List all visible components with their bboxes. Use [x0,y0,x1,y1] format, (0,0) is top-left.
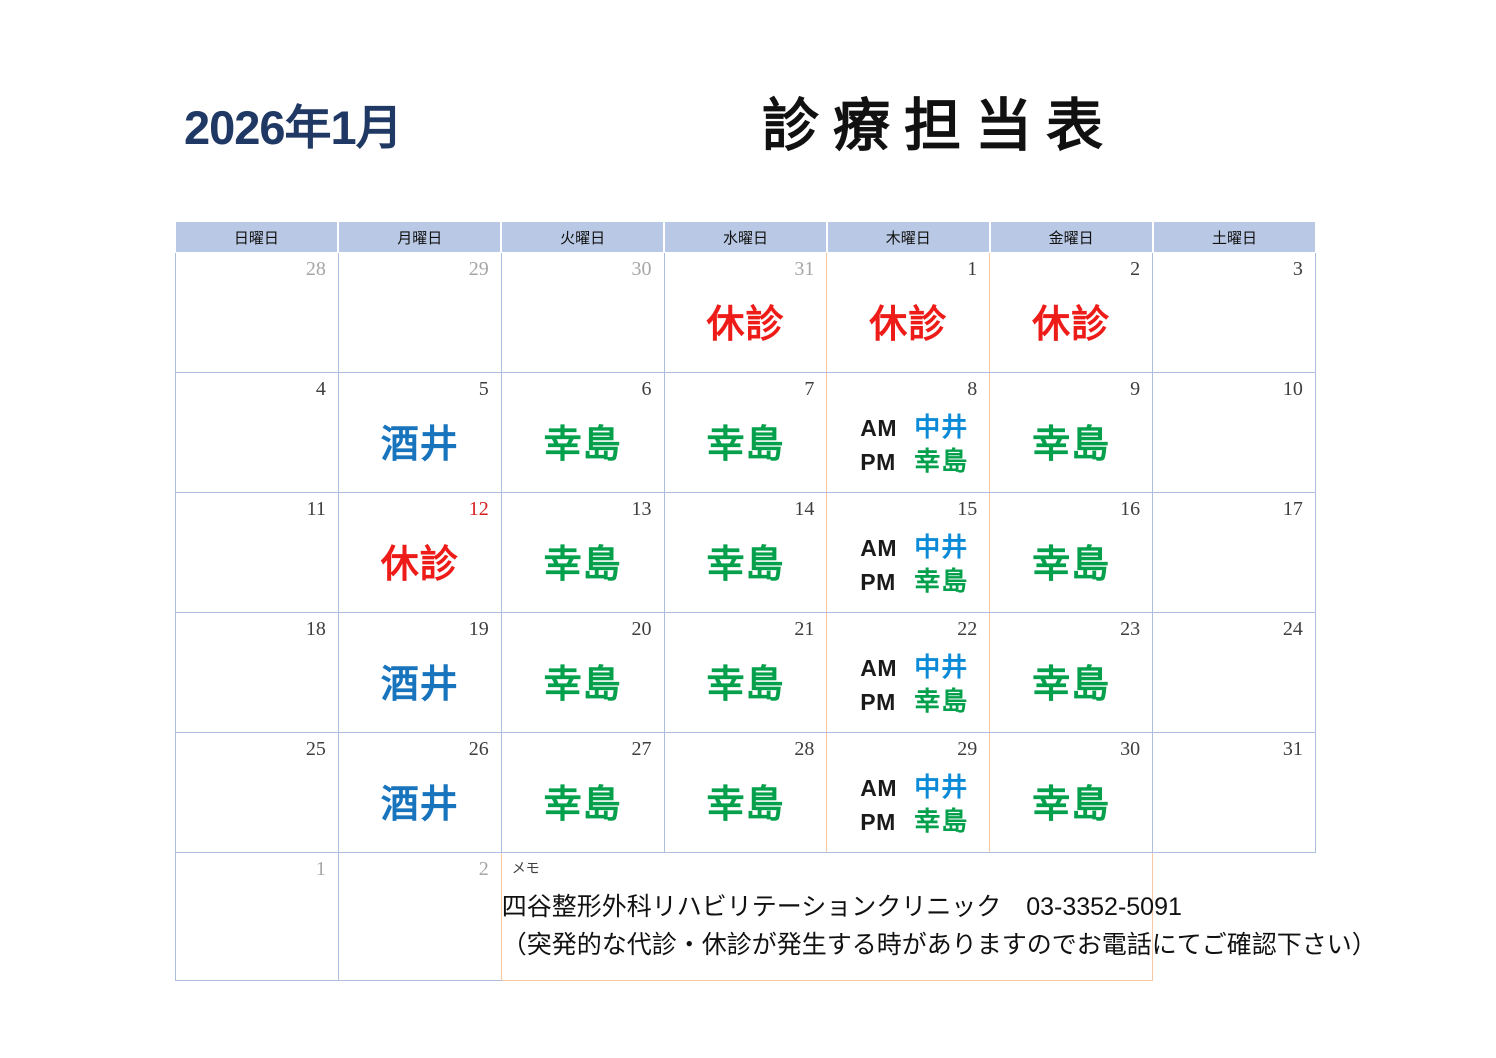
pm-shift-doctor-name: 幸島 [914,448,968,474]
day-number: 3 [1153,253,1315,285]
doctor-name: 幸島 [544,666,622,704]
day-number: 26 [339,733,501,765]
day-assignment: 休診 [339,525,501,609]
memo-row: 12メモ四谷整形外科リハビリテーションクリニック 03-3352-5091（突発… [176,853,1316,981]
day-assignment: 酒井 [339,765,501,849]
calendar-day-cell[interactable]: 28 [176,253,339,373]
doctor-name: 幸島 [1032,666,1110,704]
ampm-assignment: AM中井PM幸島 [848,414,968,476]
day-number: 9 [990,373,1152,405]
day-assignment [176,765,338,849]
day-number: 6 [502,373,664,405]
schedule-page: 2026年1月 診療担当表 日曜日月曜日火曜日水曜日木曜日金曜日土曜日 2829… [0,0,1496,1058]
memo-box[interactable]: メモ四谷整形外科リハビリテーションクリニック 03-3352-5091（突発的な… [501,853,1152,981]
calendar-day-cell[interactable]: 22AM中井PM幸島 [827,613,990,733]
day-number: 22 [827,613,989,645]
pm-shift-doctor-name: 幸島 [914,688,968,714]
calendar-day-cell[interactable]: 21幸島 [664,613,827,733]
day-assignment [1153,765,1315,849]
pm-shift-doctor-name: 幸島 [914,808,968,834]
ampm-assignment: AM中井PM幸島 [848,534,968,596]
calendar-day-cell[interactable]: 16幸島 [990,493,1153,613]
day-number: 7 [665,373,827,405]
day-assignment: AM中井PM幸島 [827,525,989,609]
day-number: 31 [665,253,827,285]
am-shift-doctor-name: 中井 [914,534,968,560]
calendar-day-cell[interactable]: 4 [176,373,339,493]
day-number: 8 [827,373,989,405]
pm-shift-doctor-name: 幸島 [914,568,968,594]
day-assignment [1153,405,1315,489]
calendar-header: 日曜日月曜日火曜日水曜日木曜日金曜日土曜日 [176,222,1316,253]
am-shift-doctor-name: 中井 [914,414,968,440]
day-number: 18 [176,613,338,645]
am-shift: AM中井 [860,414,968,442]
doctor-name: 幸島 [1032,546,1110,584]
day-number: 20 [502,613,664,645]
day-number: 21 [665,613,827,645]
doctor-name: 幸島 [544,786,622,824]
day-assignment [176,285,338,369]
day-assignment: 幸島 [502,405,664,489]
day-assignment [1153,525,1315,609]
calendar-day-cell[interactable]: 3 [1153,253,1316,373]
calendar-day-cell[interactable]: 14幸島 [664,493,827,613]
doctor-name: 酒井 [381,786,459,824]
calendar-day-cell[interactable]: 10 [1153,373,1316,493]
day-number: 10 [1153,373,1315,405]
day-assignment [176,525,338,609]
am-shift: AM中井 [860,654,968,682]
calendar-day-cell[interactable]: 17 [1153,493,1316,613]
pm-shift: PM幸島 [860,568,968,596]
day-assignment: 幸島 [665,525,827,609]
clinic-name-and-phone: 四谷整形外科リハビリテーションクリニック 03-3352-5091 [502,889,1152,927]
day-number: 2 [990,253,1152,285]
calendar-day-cell[interactable]: 11 [176,493,339,613]
day-assignment: 幸島 [990,645,1152,729]
pm-shift-label: PM [860,809,902,836]
calendar-day-cell[interactable]: 23幸島 [990,613,1153,733]
day-assignment: 幸島 [502,645,664,729]
calendar-day-cell[interactable]: 24 [1153,613,1316,733]
calendar-day-cell[interactable]: 27幸島 [501,733,664,853]
day-number: 13 [502,493,664,525]
calendar-day-cell[interactable]: 15AM中井PM幸島 [827,493,990,613]
day-assignment: 休診 [827,285,989,369]
calendar-day-cell[interactable]: 30幸島 [990,733,1153,853]
day-assignment: 酒井 [339,405,501,489]
page-title-document: 診療担当表 [762,98,1117,155]
day-assignment: AM中井PM幸島 [827,405,989,489]
day-number: 15 [827,493,989,525]
day-assignment: AM中井PM幸島 [827,765,989,849]
pm-shift: PM幸島 [860,448,968,476]
doctor-name: 幸島 [544,546,622,584]
day-number: 28 [665,733,827,765]
doctor-name: 幸島 [706,786,784,824]
pm-shift: PM幸島 [860,808,968,836]
day-number: 14 [665,493,827,525]
calendar-day-cell[interactable]: 1休診 [827,253,990,373]
day-number: 17 [1153,493,1315,525]
day-assignment: 幸島 [990,405,1152,489]
am-shift-label: AM [860,655,902,682]
calendar-day-cell[interactable]: 8AM中井PM幸島 [827,373,990,493]
calendar-day-cell[interactable]: 9幸島 [990,373,1153,493]
am-shift-doctor-name: 中井 [914,774,968,800]
doctor-name: 幸島 [706,666,784,704]
weekday-header-6: 土曜日 [1153,222,1316,253]
calendar-day-cell[interactable]: 31休診 [664,253,827,373]
am-shift-label: AM [860,535,902,562]
day-number: 16 [990,493,1152,525]
pm-shift-label: PM [860,569,902,596]
calendar-day-cell[interactable]: 19酒井 [338,613,501,733]
calendar-day-cell[interactable]: 29 [338,253,501,373]
day-assignment: 幸島 [665,645,827,729]
day-number: 2 [339,853,501,885]
day-assignment: 幸島 [502,765,664,849]
am-shift-doctor-name: 中井 [914,654,968,680]
closed-label: 休診 [706,306,784,344]
doctor-name: 幸島 [544,426,622,464]
calendar-day-cell[interactable]: 28幸島 [664,733,827,853]
calendar-day-cell[interactable]: 20幸島 [501,613,664,733]
day-number: 4 [176,373,338,405]
calendar-week-row: 28293031休診1休診2休診3 [176,253,1316,373]
pm-shift-label: PM [860,689,902,716]
day-number: 29 [827,733,989,765]
day-assignment [176,405,338,489]
ampm-assignment: AM中井PM幸島 [848,774,968,836]
day-number: 25 [176,733,338,765]
day-assignment: 幸島 [990,525,1152,609]
page-title-month: 2026年1月 [184,104,402,151]
weekday-header-2: 火曜日 [501,222,664,253]
day-assignment [1153,645,1315,729]
closed-label: 休診 [381,546,459,584]
doctor-name: 幸島 [1032,786,1110,824]
day-number: 29 [339,253,501,285]
day-number: 28 [176,253,338,285]
calendar-day-cell[interactable]: 1 [176,853,339,981]
weekday-header-4: 木曜日 [827,222,990,253]
day-number: 1 [176,853,338,885]
weekday-header-5: 金曜日 [990,222,1153,253]
day-assignment: 幸島 [665,765,827,849]
weekday-header-3: 水曜日 [664,222,827,253]
day-number: 11 [176,493,338,525]
day-assignment: AM中井PM幸島 [827,645,989,729]
day-number: 30 [990,733,1152,765]
calendar-week-row: 1819酒井20幸島21幸島22AM中井PM幸島23幸島24 [176,613,1316,733]
schedule-calendar: 日曜日月曜日火曜日水曜日木曜日金曜日土曜日 28293031休診1休診2休診34… [175,222,1316,981]
memo-label: メモ [502,853,1152,875]
day-number: 5 [339,373,501,405]
day-number: 1 [827,253,989,285]
day-number: 30 [502,253,664,285]
calendar-week-row: 2526酒井27幸島28幸島29AM中井PM幸島30幸島31 [176,733,1316,853]
calendar-day-cell[interactable]: 18 [176,613,339,733]
weekday-header-0: 日曜日 [176,222,339,253]
day-assignment [1153,285,1315,369]
day-assignment: 幸島 [990,765,1152,849]
day-assignment: 幸島 [665,405,827,489]
day-assignment: 休診 [990,285,1152,369]
doctor-name: 酒井 [381,426,459,464]
am-shift: AM中井 [860,534,968,562]
ampm-assignment: AM中井PM幸島 [848,654,968,716]
day-assignment: 酒井 [339,645,501,729]
day-number: 24 [1153,613,1315,645]
calendar-day-cell[interactable]: 13幸島 [501,493,664,613]
doctor-name: 幸島 [706,426,784,464]
doctor-name: 幸島 [706,546,784,584]
calendar-week-row: 1112休診13幸島14幸島15AM中井PM幸島16幸島17 [176,493,1316,613]
pm-shift: PM幸島 [860,688,968,716]
calendar-week-row: 45酒井6幸島7幸島8AM中井PM幸島9幸島10 [176,373,1316,493]
day-number: 12 [339,493,501,525]
calendar-day-cell[interactable]: 6幸島 [501,373,664,493]
am-shift-label: AM [860,415,902,442]
title-row: 2026年1月 診療担当表 [0,104,1496,190]
am-shift-label: AM [860,775,902,802]
day-number: 23 [990,613,1152,645]
doctor-name: 幸島 [1032,426,1110,464]
closed-label: 休診 [1032,306,1110,344]
doctor-name: 酒井 [381,666,459,704]
day-number: 31 [1153,733,1315,765]
weekday-header-row: 日曜日月曜日火曜日水曜日木曜日金曜日土曜日 [176,222,1316,253]
pm-shift-label: PM [860,449,902,476]
calendar-day-cell[interactable]: 31 [1153,733,1316,853]
day-number: 19 [339,613,501,645]
day-assignment: 休診 [665,285,827,369]
calendar-day-cell[interactable]: 25 [176,733,339,853]
calendar-day-cell[interactable]: 2休診 [990,253,1153,373]
calendar-day-cell[interactable]: 7幸島 [664,373,827,493]
memo-text-block: 四谷整形外科リハビリテーションクリニック 03-3352-5091（突発的な代診… [502,875,1152,964]
day-number: 27 [502,733,664,765]
calendar-day-cell[interactable]: 5酒井 [338,373,501,493]
day-assignment [502,285,664,369]
day-assignment: 幸島 [502,525,664,609]
calendar-body: 28293031休診1休診2休診345酒井6幸島7幸島8AM中井PM幸島9幸島1… [176,253,1316,981]
closed-label: 休診 [869,306,947,344]
weekday-header-1: 月曜日 [338,222,501,253]
clinic-notice: （突発的な代診・休診が発生する時がありますのでお電話にてご確認下さい） [502,927,1152,965]
am-shift: AM中井 [860,774,968,802]
calendar-day-cell[interactable]: 12休診 [338,493,501,613]
day-assignment [176,645,338,729]
calendar-day-cell[interactable]: 30 [501,253,664,373]
calendar-day-cell[interactable]: 29AM中井PM幸島 [827,733,990,853]
day-assignment [339,285,501,369]
calendar-day-cell[interactable]: 26酒井 [338,733,501,853]
calendar-day-cell[interactable]: 2 [338,853,501,981]
